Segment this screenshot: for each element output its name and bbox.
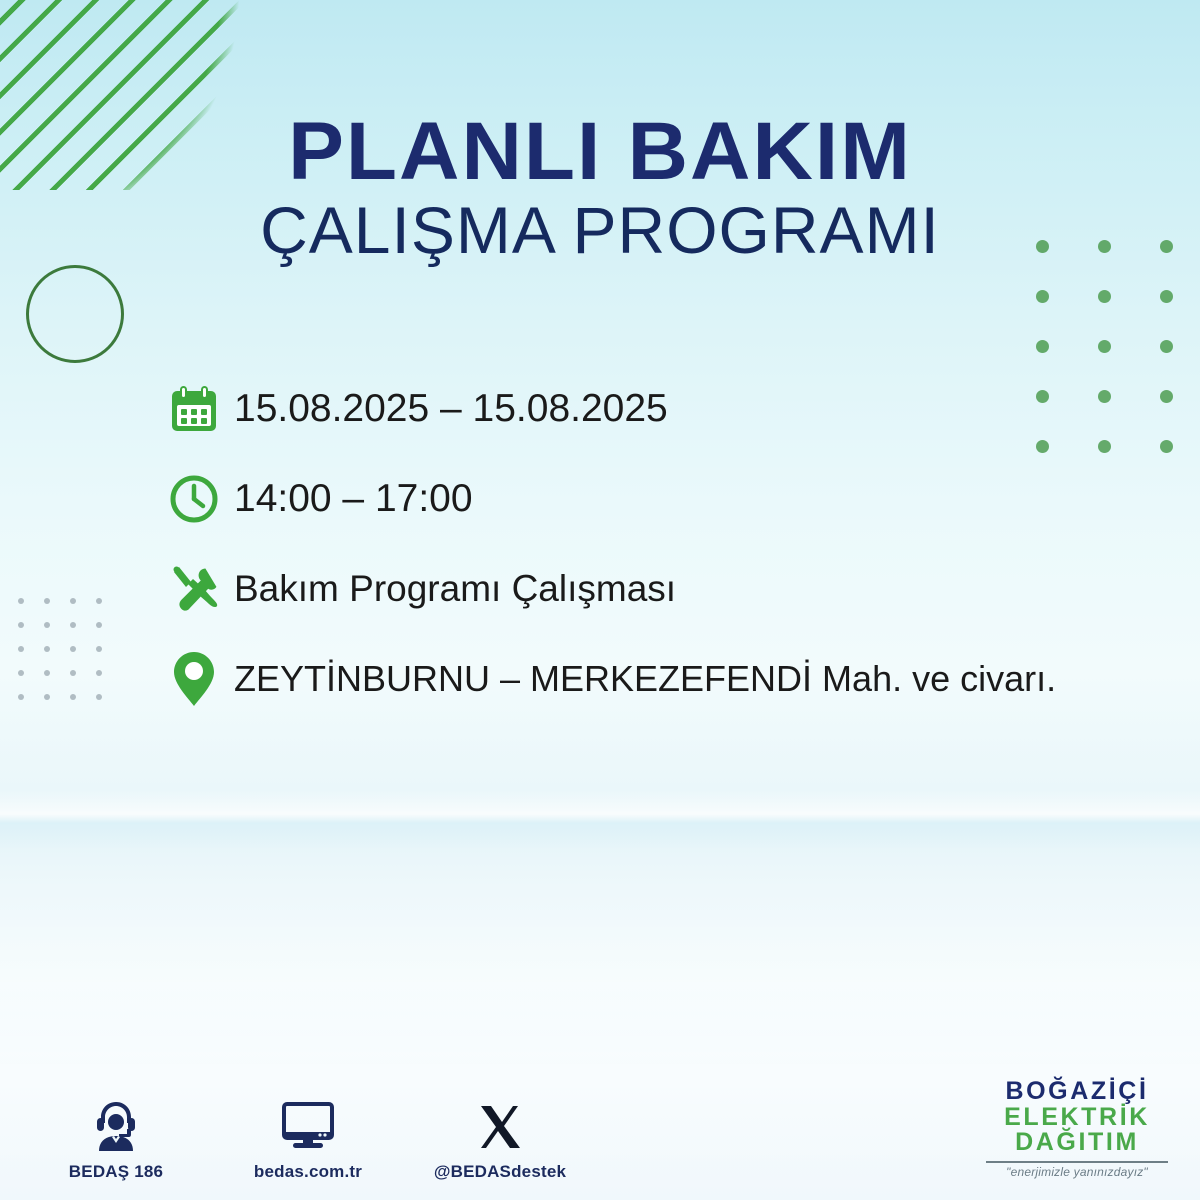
x-social-icon (430, 1092, 570, 1154)
detail-row-work: Bakım Programı Çalışması (168, 558, 1168, 620)
dot (1160, 290, 1173, 303)
dot (96, 622, 102, 628)
contact-call-center[interactable]: BEDAŞ 186 (46, 1092, 186, 1182)
planned-maintenance-poster: PLANLI BAKIM ÇALIŞMA PROGRAMI (0, 0, 1200, 1200)
brand-line-3: DAĞITIM (982, 1130, 1172, 1156)
clock-icon (168, 473, 234, 525)
dot (96, 598, 102, 604)
dot (96, 670, 102, 676)
detail-row-location: ZEYTİNBURNU – MERKEZEFENDİ Mah. ve civar… (168, 648, 1168, 710)
brand-line-2: ELEKTRİK (982, 1105, 1172, 1131)
contact-label-x-social: @BEDASdestek (430, 1162, 570, 1182)
dot (1098, 340, 1111, 353)
horizon-band-decoration (0, 790, 1200, 850)
brand-line-1: BOĞAZİÇİ (982, 1079, 1172, 1105)
contact-label-website: bedas.com.tr (238, 1162, 378, 1182)
dot (1036, 290, 1049, 303)
dot (18, 622, 24, 628)
contact-label-call-center: BEDAŞ 186 (46, 1162, 186, 1182)
poster-title: PLANLI BAKIM ÇALIŞMA PROGRAMI (0, 112, 1200, 266)
circle-outline-decoration (26, 265, 124, 363)
dot (18, 670, 24, 676)
call-center-agent-icon (46, 1092, 186, 1154)
brand-divider (986, 1161, 1168, 1163)
title-line-primary: PLANLI BAKIM (0, 112, 1200, 192)
dot (44, 694, 50, 700)
dot (70, 646, 76, 652)
bedas-logo: BOĞAZİÇİ ELEKTRİK DAĞITIM "enerjimizle y… (982, 1079, 1172, 1178)
dot (70, 598, 76, 604)
brand-tagline: "enerjimizle yanınızdayız" (982, 1166, 1172, 1178)
dot (44, 598, 50, 604)
location-pin-icon (168, 650, 234, 708)
detail-text-date: 15.08.2025 – 15.08.2025 (234, 387, 668, 431)
dot (18, 646, 24, 652)
dot (1098, 290, 1111, 303)
contact-website[interactable]: bedas.com.tr (238, 1092, 378, 1182)
dot (96, 694, 102, 700)
dot (18, 694, 24, 700)
detail-text-time: 14:00 – 17:00 (234, 477, 473, 521)
detail-row-time: 14:00 – 17:00 (168, 468, 1168, 530)
detail-text-location: ZEYTİNBURNU – MERKEZEFENDİ Mah. ve civar… (234, 658, 1056, 700)
calendar-icon (168, 383, 234, 435)
dot (70, 670, 76, 676)
dot (44, 646, 50, 652)
contact-x-social[interactable]: @BEDASdestek (430, 1092, 570, 1182)
detail-row-date: 15.08.2025 – 15.08.2025 (168, 378, 1168, 440)
dot (1160, 340, 1173, 353)
dot (44, 670, 50, 676)
dot (44, 622, 50, 628)
tools-icon (168, 563, 234, 615)
title-line-secondary: ÇALIŞMA PROGRAMI (0, 196, 1200, 265)
dot (70, 694, 76, 700)
maintenance-details-list: 15.08.2025 – 15.08.2025 14:00 – 17:00 (168, 378, 1168, 710)
dot-grid-left-decoration (18, 598, 122, 718)
dot (70, 622, 76, 628)
monitor-icon (238, 1092, 378, 1154)
dot (1036, 340, 1049, 353)
footer-contact-bar: BEDAŞ 186 bedas.com.tr @B (46, 1092, 570, 1182)
dot (96, 646, 102, 652)
detail-text-work: Bakım Programı Çalışması (234, 568, 676, 610)
dot (18, 598, 24, 604)
